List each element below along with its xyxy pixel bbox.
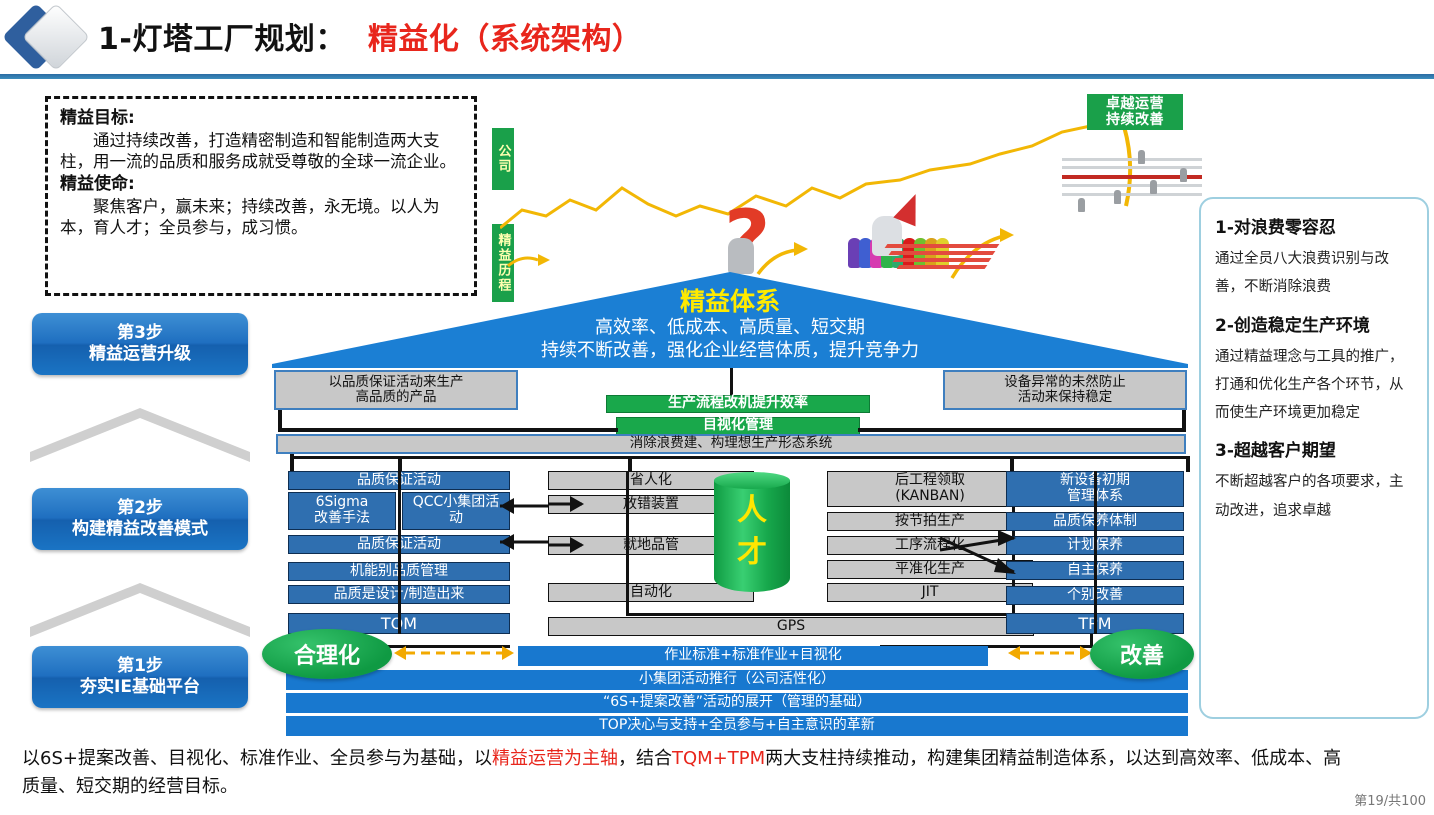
roof-text: 精益体系 高效率、低成本、高质量、短交期 持续不断改善，强化企业经营体质，提升竞… [272, 286, 1188, 362]
dashed-arrow-left-icon [392, 642, 516, 664]
step-3-button[interactable]: 第3步 精益运营升级 [32, 313, 248, 375]
cylinder-label-1: 人 [714, 490, 790, 532]
roof-line-3: 持续不断改善，强化企业经营体质，提升竞争力 [272, 340, 1188, 363]
principle-3-heading: 3-超越客户期望 [1215, 436, 1413, 461]
cylinder-label-2: 才 [714, 532, 790, 574]
kanban-line2: (KANBAN) [895, 489, 965, 505]
grey-figure-icon [728, 238, 754, 274]
principles-panel: 1-对浪费零容忍 通过全员八大浪费识别与改善，不断消除浪费 2-创造稳定生产环境… [1199, 197, 1429, 719]
connector-line [626, 613, 1016, 616]
caption-red-2: TQM+TPM [672, 748, 765, 769]
caption-part-2: ，结合 [618, 748, 672, 769]
step-1-button[interactable]: 第1步 夯实IE基础平台 [32, 646, 248, 708]
talent-cylinder: 人 才 [714, 472, 790, 600]
page-title-red: 精益化（系统架构） [368, 22, 643, 57]
goal-text: 通过持续改善，打造精密制造和智能制造两大支柱，用一流的品质和服务成就受尊敬的全球… [60, 130, 462, 173]
left-pillar-6sigma: 6Sigma 改善手法 [288, 492, 396, 530]
center-right-row-1: 后工程领取 (KANBAN) [827, 471, 1033, 507]
caption-red-1: 精益运营为主轴 [492, 748, 618, 769]
ep-box-line1: 设备异常的未然防止 [1004, 375, 1126, 390]
step-1-line2: 夯实IE基础平台 [80, 677, 200, 698]
step-2-line1: 第2步 [117, 498, 163, 519]
eliminate-waste-box: 消除浪费建、构理想生产形态系统 [276, 434, 1186, 454]
foundation-row-4: TOP决心与支持+全员参与+自主意识的革新 [286, 716, 1188, 736]
header-divider [0, 74, 1434, 79]
qcc-line2: 动 [449, 511, 463, 527]
connector-line [1182, 410, 1186, 432]
sixsigma-line1: 6Sigma [316, 495, 369, 511]
chevron-up-icon-1 [30, 400, 250, 462]
diamond-logo [8, 3, 88, 73]
chevron-up-icon-2 [30, 575, 250, 637]
mission-text: 聚焦客户，赢未来；持续改善，永无境。以人为本，育人才；全员参与，成习惯。 [60, 196, 462, 239]
goal-title: 精益目标: [60, 107, 462, 130]
principle-2-body: 通过精益理念与工具的推广，打通和优化生产各个环节，从而使生产环境更加稳定 [1215, 343, 1413, 428]
process-improve-box: 生产流程改机提升效率 [606, 395, 870, 413]
step-3-line1: 第3步 [117, 323, 163, 344]
sixsigma-line2: 改善手法 [314, 511, 370, 527]
foundation-row-1: 作业标准+标准作业+目视化 [518, 646, 988, 666]
mission-title: 精益使命: [60, 173, 462, 196]
slide-canvas: 1-灯塔工厂规划：精益化（系统架构） 精益目标: 通过持续改善，打造精密制造和智… [0, 0, 1434, 815]
principle-1-heading: 1-对浪费零容忍 [1215, 213, 1413, 238]
foundation-row-2: 小集团活动推行（公司活性化） [286, 670, 1188, 690]
quality-assurance-box: 以品质保证活动来生产 高品质的产品 [274, 370, 518, 410]
step-1-line1: 第1步 [117, 656, 163, 677]
pillar-spine-left [398, 471, 401, 634]
dashed-arrow-right-icon [1006, 642, 1094, 664]
center-right-row-5: JIT [827, 583, 1033, 602]
excellence-badge: 卓越运营 持续改善 [1087, 94, 1183, 130]
ep-box-line2: 活动来保持稳定 [1018, 390, 1113, 405]
oval-improvement: 改善 [1090, 629, 1194, 679]
gps-box: GPS [548, 617, 1034, 636]
oval-rationalization: 合理化 [262, 629, 392, 679]
page-title: 1-灯塔工厂规划：精益化（系统架构） [98, 14, 642, 58]
roof-line-2: 高效率、低成本、高质量、短交期 [272, 317, 1188, 340]
pillar-spine-center-left [626, 471, 629, 602]
pillar-spine-right [1094, 471, 1097, 634]
foundation-row-3: “6S+提案改善”活动的展开（管理的基础） [286, 693, 1188, 713]
connector-line [858, 428, 1186, 432]
caption-part-1: 以6S+提案改善、目视化、标准作业、全员参与为基础，以 [22, 748, 492, 769]
lean-goal-box: 精益目标: 通过持续改善，打造精密制造和智能制造两大支柱，用一流的品质和服务成就… [45, 96, 477, 296]
principle-2-heading: 2-创造稳定生产环境 [1215, 311, 1413, 336]
step-2-button[interactable]: 第2步 构建精益改善模式 [32, 488, 248, 550]
visual-management-box: 目视化管理 [616, 417, 860, 435]
equipment-prevention-box: 设备异常的未然防止 活动来保持稳定 [943, 370, 1187, 410]
qa-box-line1: 以品质保证活动来生产 [329, 375, 464, 390]
cross-arrow-icons [936, 528, 1020, 582]
page-number: 第19/共100 [1354, 790, 1426, 809]
kanban-line1: 后工程领取 [895, 473, 965, 489]
principle-1-body: 通过全员八大浪费识别与改善，不断消除浪费 [1215, 245, 1413, 302]
badge-line-1: 卓越运营 [1106, 96, 1164, 112]
inner-arrow-icons [548, 490, 588, 560]
page-title-black: 1-灯塔工厂规划： [98, 22, 346, 57]
qa-box-line2: 高品质的产品 [356, 390, 437, 405]
connector-line [290, 456, 1190, 459]
qcc-line1: QCC小集团活 [413, 495, 500, 511]
principle-3-body: 不断超越客户的各项要求，主动改进，追求卓越 [1215, 468, 1413, 525]
stairs-icon [1062, 156, 1202, 216]
badge-line-2: 持续改善 [1106, 112, 1164, 128]
step-2-line2: 构建精益改善模式 [72, 519, 208, 540]
left-pillar-qcc: QCC小集团活 动 [402, 492, 510, 530]
summary-caption: 以6S+提案改善、目视化、标准作业、全员参与为基础，以精益运营为主轴，结合TQM… [22, 745, 1352, 801]
connector-line [1186, 456, 1190, 472]
red-stripes-icon [886, 240, 1016, 270]
connector-line [398, 456, 402, 472]
connector-line [1010, 456, 1014, 472]
connector-line [278, 428, 618, 432]
connector-line [628, 456, 632, 472]
step-3-line2: 精益运营升级 [89, 344, 191, 365]
roof-title: 精益体系 [272, 286, 1188, 317]
